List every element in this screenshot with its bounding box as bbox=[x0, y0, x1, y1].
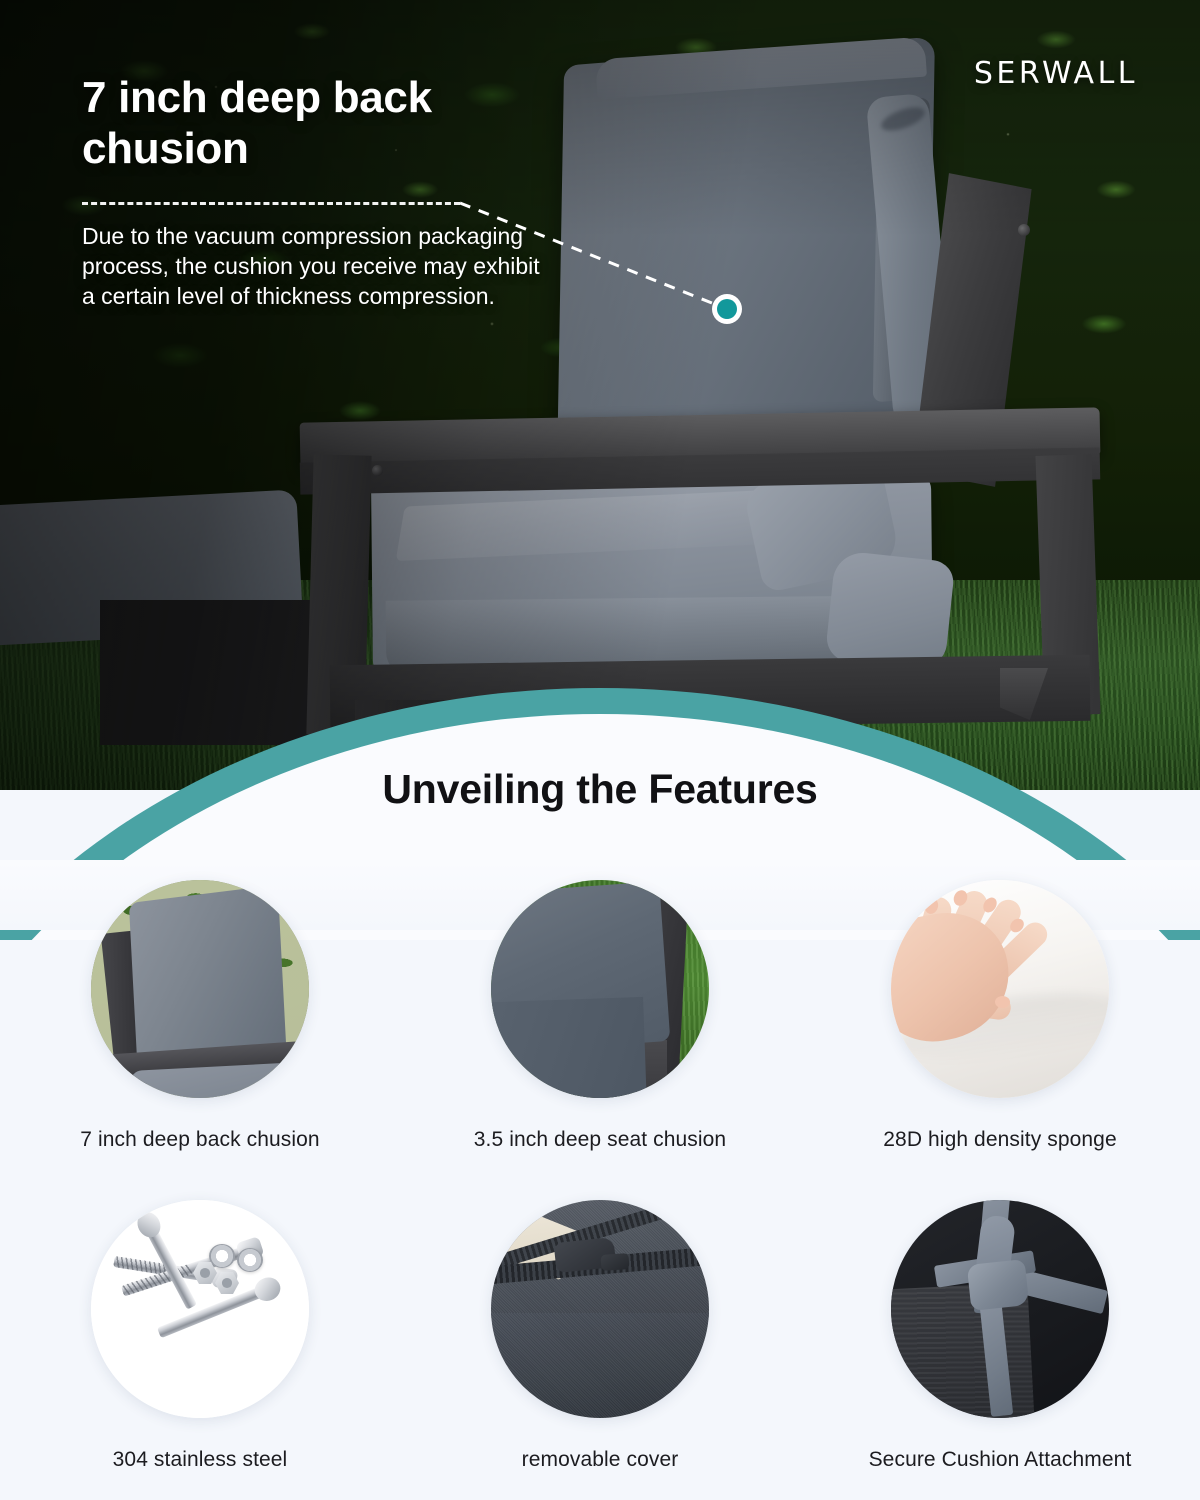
section-title: Unveiling the Features bbox=[0, 766, 1200, 813]
feature-item-cushion-attachment[interactable]: Secure Cushion Attachment bbox=[800, 1200, 1200, 1472]
strap-knot-icon bbox=[967, 1259, 1029, 1311]
feature-item-sponge[interactable]: 28D high density sponge bbox=[800, 880, 1200, 1152]
feature-caption: removable cover bbox=[522, 1448, 679, 1472]
feature-caption: Secure Cushion Attachment bbox=[869, 1448, 1132, 1472]
feature-row-bottom: 304 stainless steel removable cover bbox=[0, 1200, 1200, 1472]
washer-icon bbox=[237, 1248, 263, 1272]
feature-image-cushion-attachment bbox=[891, 1200, 1109, 1418]
feature-item-removable-cover[interactable]: removable cover bbox=[400, 1200, 800, 1472]
feature-caption: 28D high density sponge bbox=[883, 1128, 1116, 1152]
feature-item-seat-cushion[interactable]: 3.5 inch deep seat chusion bbox=[400, 880, 800, 1152]
feature-caption: 3.5 inch deep seat chusion bbox=[474, 1128, 726, 1152]
feature-image-removable-cover bbox=[491, 1200, 709, 1418]
feature-image-back-cushion bbox=[91, 880, 309, 1098]
brand-logo: SERWALL bbox=[974, 56, 1138, 91]
callout-dot-icon bbox=[717, 299, 737, 319]
feature-caption: 7 inch deep back chusion bbox=[80, 1128, 319, 1152]
hero-headline: 7 inch deep back chusion bbox=[82, 72, 512, 174]
hero-dashed-divider bbox=[82, 202, 460, 205]
feature-image-sponge bbox=[891, 880, 1109, 1098]
feature-image-seat-cushion bbox=[491, 880, 709, 1098]
zipper-pull-icon bbox=[600, 1253, 629, 1271]
feature-row-top: 7 inch deep back chusion 3.5 inch deep s… bbox=[0, 880, 1200, 1152]
feature-grid: 7 inch deep back chusion 3.5 inch deep s… bbox=[0, 880, 1200, 1472]
hero-body-text: Due to the vacuum compression packaging … bbox=[82, 222, 552, 312]
feature-image-stainless-steel bbox=[91, 1200, 309, 1418]
feature-item-back-cushion[interactable]: 7 inch deep back chusion bbox=[0, 880, 400, 1152]
feature-item-stainless-steel[interactable]: 304 stainless steel bbox=[0, 1200, 400, 1472]
feature-caption: 304 stainless steel bbox=[113, 1448, 288, 1472]
washer-icon bbox=[209, 1244, 235, 1268]
